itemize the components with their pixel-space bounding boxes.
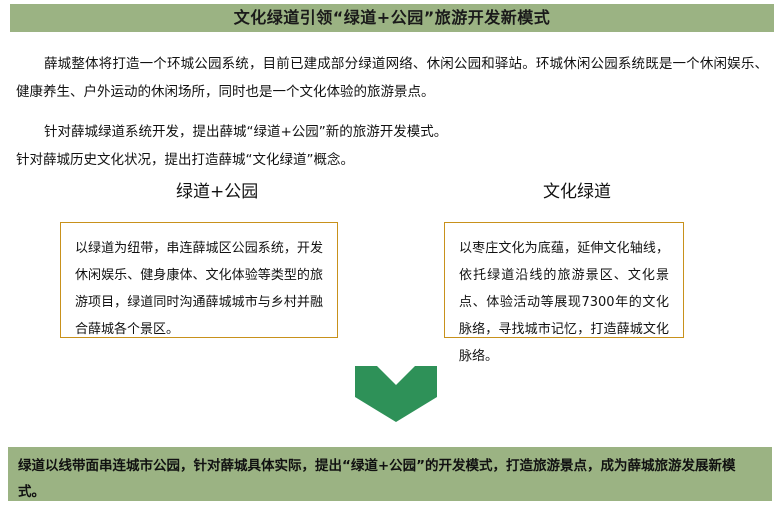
concept-heading-greenway-park: 绿道+公园 [176,184,258,201]
conclusion-text: 绿道以线带面串连城市公园，针对薛城具体实际，提出“绿道+公园”的开发模式，打造旅… [18,453,762,505]
chevron-down-icon [355,366,437,422]
concept-box-cultural-greenway: 以枣庄文化为底蕴，延伸文化轴线，依托绿道沿线的旅游景区、文化景点、体验活动等展现… [444,222,684,338]
conclusion-banner: 绿道以线带面串连城市公园，针对薛城具体实际，提出“绿道+公园”的开发模式，打造旅… [8,447,772,501]
title-banner: 文化绿道引领“绿道+公园”旅游开发新模式 [10,4,774,32]
concept-box-cultural-greenway-text: 以枣庄文化为底蕴，延伸文化轴线，依托绿道沿线的旅游景区、文化景点、体验活动等展现… [459,235,669,370]
intro-paragraph-3: 针对薛城历史文化状况，提出打造薛城“文化绿道”概念。 [16,146,768,174]
concept-box-greenway-park: 以绿道为纽带，串连薛城区公园系统，开发休闲娱乐、健身康体、文化体验等类型的旅游项… [60,222,338,338]
concept-box-greenway-park-text: 以绿道为纽带，串连薛城区公园系统，开发休闲娱乐、健身康体、文化体验等类型的旅游项… [75,235,323,343]
intro-paragraph-2: 针对薛城绿道系统开发，提出薛城“绿道+公园”新的旅游开发模式。 [16,118,768,146]
concept-heading-cultural-greenway: 文化绿道 [543,184,611,201]
page-title: 文化绿道引领“绿道+公园”旅游开发新模式 [234,10,550,26]
intro-paragraph-1: 薛城整体将打造一个环城公园系统，目前已建成部分绿道网络、休闲公园和驿站。环城休闲… [16,50,768,106]
